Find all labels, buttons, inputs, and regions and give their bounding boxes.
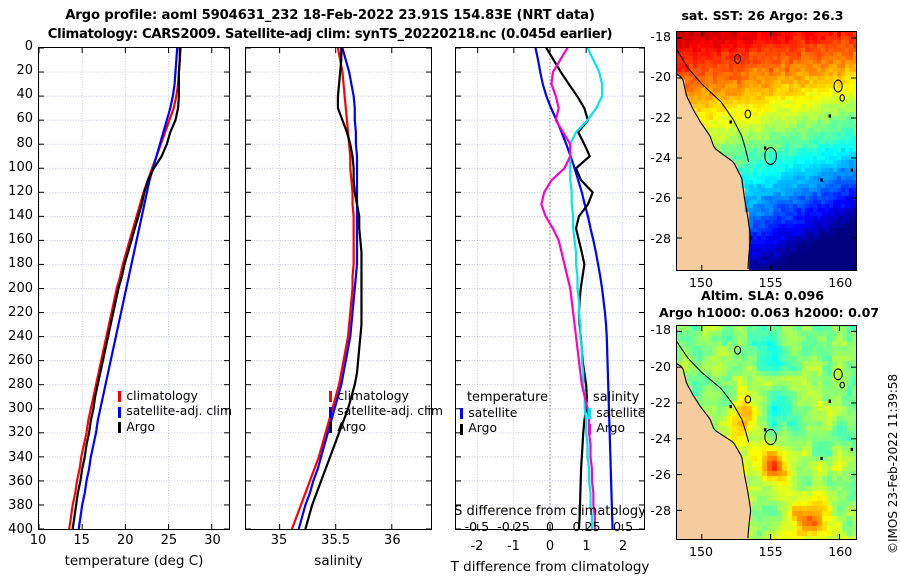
legend-entry: Argo — [460, 421, 517, 436]
depth-tick-label: 240 — [0, 329, 33, 344]
main-title-line2: Climatology: CARS2009. Satellite-adj cli… — [0, 27, 660, 42]
salinity-tick-label: 35.5 — [312, 533, 360, 548]
legend-entry: satellite-adj. clim — [118, 404, 232, 419]
difference-legend-temperature: satelliteArgo — [460, 406, 517, 437]
main-title-line1: Argo profile: aoml 5904631_232 18-Feb-20… — [0, 8, 660, 23]
salinity-axis-title: salinity — [245, 553, 432, 569]
sst-map — [676, 31, 857, 271]
depth-tick-label: 180 — [0, 256, 33, 271]
sla-map-lat-tick-label: -18 — [638, 322, 671, 337]
depth-tick-label: 40 — [0, 87, 33, 102]
legend-label: satellite-adj. clim — [126, 404, 232, 419]
salinity-profile-panel — [245, 47, 432, 530]
difference-legend-salinity: satelliteArgo — [588, 406, 645, 437]
sst-map-lat-tick-label: -18 — [638, 29, 671, 44]
temperature-axis-title: temperature (deg C) — [38, 553, 230, 569]
legend-color-swatch — [118, 391, 121, 402]
legend-label: Argo — [468, 421, 497, 436]
sla-map-lon-tick-label: 160 — [818, 544, 862, 559]
s-difference-axis-title: S difference from climatology — [440, 504, 660, 519]
copyright-text: ©IMOS 23-Feb-2022 11:39:58 — [886, 374, 900, 554]
legend-color-swatch — [118, 422, 121, 433]
t-difference-tick-label: 2 — [603, 539, 643, 554]
temperature-profile-panel — [38, 47, 230, 530]
legend-label: satellite-adj. clim — [337, 404, 443, 419]
sst-map-lat-tick-label: -22 — [638, 110, 671, 125]
sla-map-lon-tick-label: 150 — [679, 544, 723, 559]
sla-map-lon-tick-label: 155 — [749, 544, 793, 559]
depth-tick-label: 280 — [0, 377, 33, 392]
t-difference-tick-label: -1 — [493, 539, 533, 554]
depth-tick-label: 80 — [0, 136, 33, 151]
legend-entry: satellite — [460, 406, 517, 421]
difference-legend-header-temperature: temperature — [467, 390, 548, 405]
temperature-tick-label: 15 — [62, 533, 102, 548]
salinity-tick-label: 35 — [255, 533, 303, 548]
sla-map-lat-tick-label: -24 — [638, 431, 671, 446]
legend-color-swatch — [588, 424, 591, 435]
legend-label: Argo — [126, 420, 155, 435]
t-difference-tick-label: -2 — [457, 539, 497, 554]
legend-color-swatch — [588, 408, 591, 419]
s-difference-tick-label: 0.5 — [601, 519, 645, 534]
depth-tick-label: 300 — [0, 401, 33, 416]
sla-map-lat-tick-label: -28 — [638, 503, 671, 518]
difference-profile-panel — [455, 47, 645, 530]
sst-map-coastline — [677, 32, 856, 270]
salinity-legend: climatologysatellite-adj. climArgo — [329, 389, 443, 435]
legend-color-swatch — [329, 391, 332, 402]
legend-label: climatology — [126, 389, 197, 404]
depth-tick-label: 100 — [0, 160, 33, 175]
sst-map-lat-tick-label: -28 — [638, 231, 671, 246]
depth-tick-label: 340 — [0, 450, 33, 465]
sla-map — [676, 325, 857, 540]
sla-map-lat-tick-label: -26 — [638, 467, 671, 482]
legend-color-swatch — [460, 408, 463, 419]
depth-tick-label: 320 — [0, 425, 33, 440]
temperature-tick-label: 30 — [193, 533, 233, 548]
legend-entry: Argo — [588, 421, 645, 436]
legend-label: satellite — [468, 406, 517, 421]
depth-tick-label: 60 — [0, 111, 33, 126]
legend-entry: satellite — [588, 406, 645, 421]
sla-map-lat-tick-label: -22 — [638, 395, 671, 410]
sst-map-lat-tick-label: -26 — [638, 190, 671, 205]
difference-legend-header-salinity: salinity — [593, 390, 639, 405]
sst-map-title: sat. SST: 26 Argo: 26.3 — [665, 8, 860, 23]
depth-tick-label: 220 — [0, 305, 33, 320]
depth-tick-label: 360 — [0, 474, 33, 489]
legend-entry: climatology — [118, 389, 232, 404]
sst-map-lat-tick-label: -24 — [638, 150, 671, 165]
sla-map-coastline — [677, 326, 856, 539]
legend-entry: satellite-adj. clim — [329, 404, 443, 419]
t-difference-tick-label: 0 — [530, 539, 570, 554]
sla-map-title-line1: Altim. SLA: 0.096 — [665, 288, 860, 303]
depth-tick-label: 140 — [0, 208, 33, 223]
legend-label: Argo — [596, 421, 625, 436]
depth-tick-label: 20 — [0, 63, 33, 78]
sla-map-title-line2: Argo h1000: 0.063 h2000: 0.07 — [659, 305, 867, 320]
depth-tick-label: 260 — [0, 353, 33, 368]
legend-label: Argo — [337, 420, 366, 435]
sst-map-lat-tick-label: -20 — [638, 69, 671, 84]
legend-color-swatch — [329, 407, 332, 418]
temperature-tick-label: 20 — [105, 533, 145, 548]
depth-tick-label: 0 — [0, 39, 33, 54]
legend-entry: climatology — [329, 389, 443, 404]
legend-color-swatch — [460, 424, 463, 435]
temperature-tick-label: 10 — [18, 533, 58, 548]
sla-map-lat-tick-label: -20 — [638, 359, 671, 374]
legend-color-swatch — [329, 422, 332, 433]
legend-entry: Argo — [118, 420, 232, 435]
t-difference-axis-title: T difference from climatology — [440, 559, 660, 575]
depth-tick-label: 160 — [0, 232, 33, 247]
depth-tick-label: 380 — [0, 498, 33, 513]
temperature-legend: climatologysatellite-adj. climArgo — [118, 389, 232, 435]
depth-tick-label: 200 — [0, 281, 33, 296]
salinity-tick-label: 36 — [368, 533, 416, 548]
depth-tick-label: 120 — [0, 184, 33, 199]
t-difference-tick-label: 1 — [567, 539, 607, 554]
legend-label: climatology — [337, 389, 408, 404]
legend-entry: Argo — [329, 420, 443, 435]
temperature-tick-label: 25 — [149, 533, 189, 548]
legend-color-swatch — [118, 407, 121, 418]
